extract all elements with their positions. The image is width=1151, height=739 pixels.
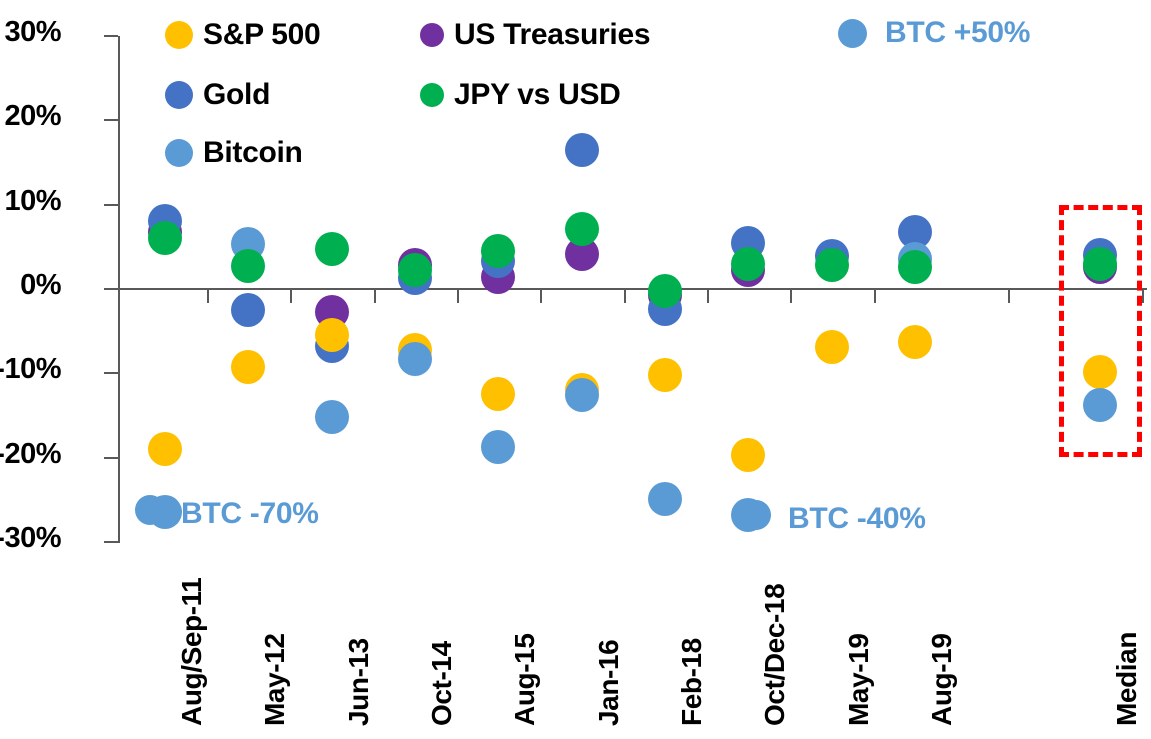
data-point [315, 232, 349, 266]
y-tick [104, 35, 118, 37]
data-point [398, 253, 432, 287]
btc-up-50-marker [838, 19, 867, 48]
x-axis-label-feb-18: Feb-18 [676, 638, 708, 726]
legend-label: Bitcoin [203, 136, 303, 170]
y-tick [104, 204, 118, 206]
btc-down-40-label: BTC -40% [788, 502, 926, 536]
y-tick [104, 119, 118, 121]
data-point [148, 432, 182, 466]
legend-item-s-p-500[interactable]: S&P 500 [165, 18, 320, 52]
data-point [481, 234, 515, 268]
y-tick [104, 541, 118, 543]
x-tick [624, 290, 626, 303]
legend-swatch-icon [420, 83, 444, 107]
data-point [815, 330, 849, 364]
legend-label: S&P 500 [203, 18, 320, 52]
data-point [815, 248, 849, 282]
data-point [731, 438, 765, 472]
y-tick [104, 457, 118, 459]
y-tick-label: 30% [4, 16, 61, 49]
x-tick [1008, 290, 1010, 303]
x-axis-label-jan-16: Jan-16 [593, 640, 625, 726]
data-point [231, 249, 265, 283]
x-axis-label-median: Median [1111, 632, 1143, 726]
data-point [898, 325, 932, 359]
x-tick [1142, 290, 1144, 303]
x-axis-label-aug-15: Aug-15 [509, 634, 541, 727]
legend-swatch-icon [165, 139, 193, 167]
legend-label: JPY vs USD [454, 78, 621, 112]
btc-up-50-label: BTC +50% [885, 16, 1030, 50]
data-point [565, 212, 599, 246]
data-point [648, 358, 682, 392]
x-tick [540, 290, 542, 303]
x-tick [374, 290, 376, 303]
btc-down-40-marker [741, 500, 771, 530]
data-point [148, 221, 182, 255]
data-point [648, 274, 682, 308]
x-tick [874, 290, 876, 303]
legend-label: Gold [203, 78, 270, 112]
data-point [481, 430, 515, 464]
x-axis-label-oct-dec-18: Oct/Dec-18 [759, 584, 791, 726]
x-axis-label-may-12: May-12 [259, 633, 291, 726]
data-point [731, 247, 765, 281]
data-point [481, 377, 515, 411]
y-tick-label: -20% [0, 438, 61, 471]
scatter-chart: 30%20%10%0%-10%-20%-30% Aug/Sep-11May-12… [0, 0, 1151, 739]
y-tick-label: -30% [0, 522, 61, 555]
btc-down-70-label: BTC -70% [181, 497, 319, 531]
legend-label: US Treasuries [454, 18, 650, 52]
data-point [565, 133, 599, 167]
legend-item-jpy-vs-usd[interactable]: JPY vs USD [420, 78, 621, 112]
x-tick [290, 290, 292, 303]
median-highlight-box [1059, 205, 1142, 457]
y-tick-label: -10% [0, 353, 61, 386]
legend-swatch-icon [165, 81, 193, 109]
btc-down-70-marker [135, 495, 165, 525]
data-point [648, 482, 682, 516]
x-axis-label-aug-19: Aug-19 [926, 634, 958, 727]
y-tick-label: 20% [4, 100, 61, 133]
x-tick [707, 290, 709, 303]
legend-swatch-icon [420, 23, 444, 47]
x-axis-label-may-19: May-19 [843, 633, 875, 726]
x-axis-label-aug-sep-11: Aug/Sep-11 [176, 578, 208, 726]
legend-swatch-icon [165, 21, 193, 49]
data-point [315, 400, 349, 434]
data-point [231, 293, 265, 327]
x-axis-label-jun-13: Jun-13 [343, 638, 375, 726]
y-tick-label: 10% [4, 185, 61, 218]
zero-baseline [118, 288, 1147, 290]
y-tick [104, 288, 118, 290]
x-axis-label-oct-14: Oct-14 [426, 641, 458, 726]
data-point [231, 350, 265, 384]
data-point [898, 250, 932, 284]
x-tick [207, 290, 209, 303]
y-tick-label: 0% [20, 269, 61, 302]
legend-item-us-treasuries[interactable]: US Treasuries [420, 18, 650, 52]
legend-item-bitcoin[interactable]: Bitcoin [165, 136, 303, 170]
y-tick [104, 372, 118, 374]
legend-item-gold[interactable]: Gold [165, 78, 270, 112]
data-point [398, 342, 432, 376]
data-point [565, 378, 599, 412]
x-tick [457, 290, 459, 303]
x-tick [790, 290, 792, 303]
